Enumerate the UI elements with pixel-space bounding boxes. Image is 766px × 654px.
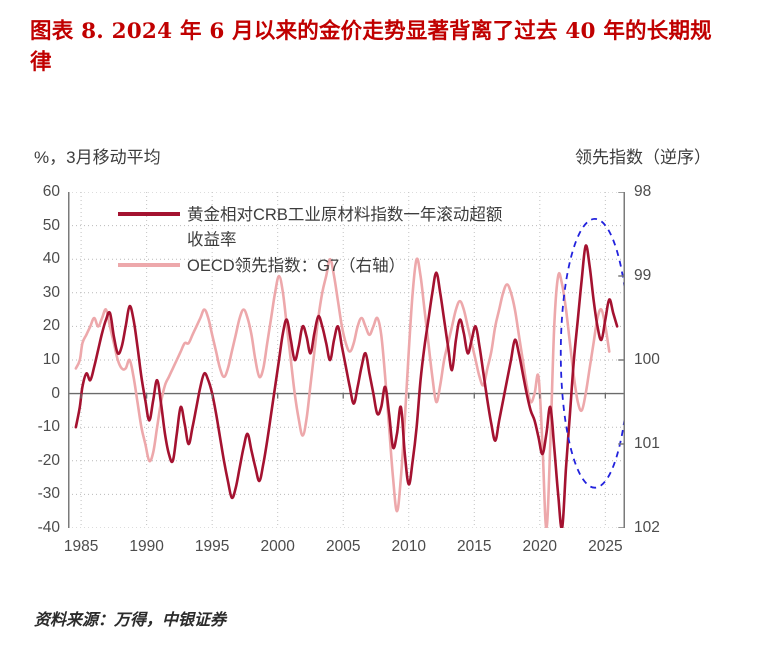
legend-item-2[interactable]: OECD领先指数：G7（右轴） [118, 254, 548, 279]
x-axis-tick-label: 1990 [129, 538, 163, 556]
figure-container: 图表 8. 2024 年 6 月以来的金价走势显著背离了过去 40 年的长期规律… [0, 0, 766, 654]
left-axis-ticks: -40-30-20-100102030405060 [18, 192, 60, 528]
y-axis-tick-label: 10 [18, 351, 60, 369]
y-axis-tick-label: 60 [18, 183, 60, 201]
y2-axis-tick-label: 102 [634, 519, 660, 537]
y-axis-tick-label: -10 [18, 418, 60, 436]
y-axis-tick-label: 40 [18, 250, 60, 268]
legend-item-label: OECD领先指数：G7（右轴） [187, 254, 405, 279]
figure-title: 图表 8. 2024 年 6 月以来的金价走势显著背离了过去 40 年的长期规律 [30, 16, 730, 78]
y-axis-tick-label: -30 [18, 485, 60, 503]
right-axis-ticks: 9899100101102 [634, 192, 694, 528]
y2-axis-tick-label: 100 [634, 351, 660, 369]
source-note: 资料来源：万得，中银证券 [34, 606, 226, 630]
y2-axis-tick-label: 99 [634, 267, 651, 285]
chart-legend: 黄金相对CRB工业原材料指数一年滚动超额收益率OECD领先指数：G7（右轴） [118, 203, 548, 280]
legend-color-swatch [118, 263, 180, 267]
y-axis-tick-label: 20 [18, 317, 60, 335]
legend-item-label: 黄金相对CRB工业原材料指数一年滚动超额收益率 [187, 203, 517, 253]
y-axis-tick-label: 50 [18, 217, 60, 235]
y-axis-tick-label: 30 [18, 284, 60, 302]
x-axis-ticks: 198519901995200020052010201520202025 [68, 538, 625, 564]
x-axis-tick-label: 2020 [523, 538, 557, 556]
y2-axis-tick-label: 101 [634, 435, 660, 453]
x-axis-tick-label: 2010 [392, 538, 426, 556]
y-axis-tick-label: -20 [18, 452, 60, 470]
y-axis-tick-label: 0 [18, 385, 60, 403]
x-axis-tick-label: 2025 [588, 538, 622, 556]
left-axis-caption: %，3月移动平均 [34, 143, 161, 168]
x-axis-tick-label: 2005 [326, 538, 360, 556]
x-axis-tick-label: 2015 [457, 538, 491, 556]
legend-color-swatch [118, 212, 180, 216]
x-axis-tick-label: 1995 [195, 538, 229, 556]
y2-axis-tick-label: 98 [634, 183, 651, 201]
right-axis-caption: 领先指数（逆序） [575, 143, 711, 168]
x-axis-tick-label: 1985 [64, 538, 98, 556]
y-axis-tick-label: -40 [18, 519, 60, 537]
x-axis-tick-label: 2000 [260, 538, 294, 556]
legend-item-1[interactable]: 黄金相对CRB工业原材料指数一年滚动超额收益率 [118, 203, 548, 253]
